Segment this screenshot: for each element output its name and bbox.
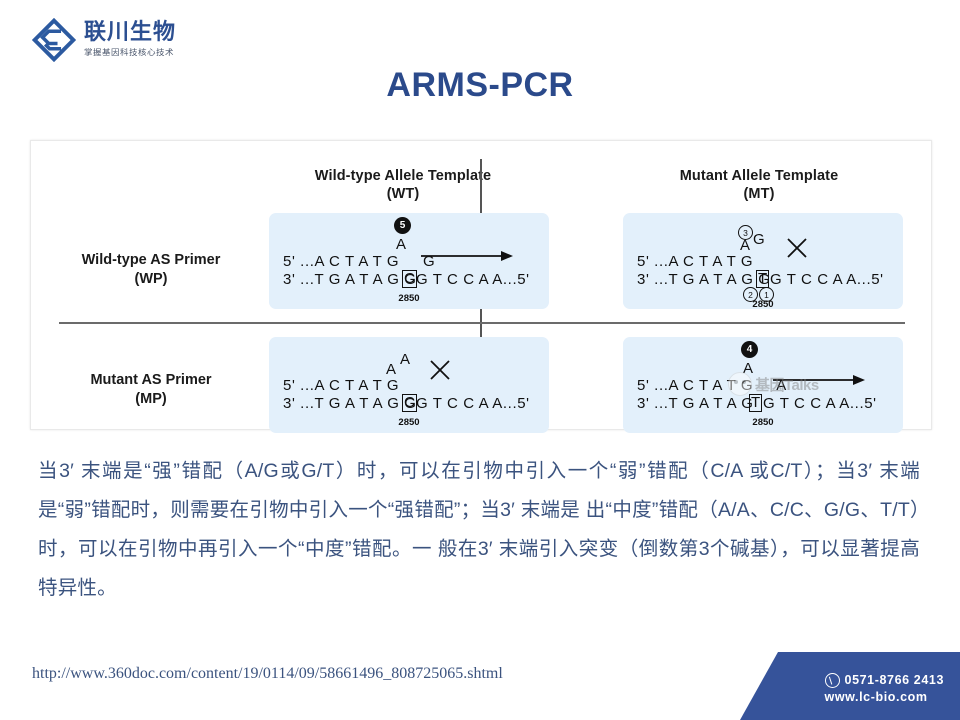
- blocked-cross-icon-wt-mp: [429, 359, 451, 381]
- body-paragraph: 当3′ 末端是“强”错配（A/G或G/T）时，可以在引物中引入一个“弱”错配（C…: [38, 452, 920, 608]
- position-label-mt-mp: 2850: [623, 417, 903, 428]
- badge-4: 4: [741, 341, 758, 358]
- lc-bio-logo-icon: [32, 18, 76, 62]
- bottom-tail-mt-wp: G T C C A A...5': [770, 271, 884, 288]
- position-label-wt-mp: 2850: [269, 417, 549, 428]
- top-strand-mt-mp: 5' ...A C T A T G A: [637, 377, 787, 394]
- bottom-strand-mt-wp: 3' ...T G A T A G G: [637, 271, 771, 288]
- top-strand-mt-wp: 5' ...A C T A T G: [637, 253, 753, 270]
- brand-text: 联川生物 掌握基因科技核心技术: [84, 18, 176, 58]
- mismatch-base-mt-mp: A: [743, 360, 753, 377]
- column-header-wt-line2: (WT): [253, 185, 553, 203]
- bottom-strand-wt-wp: 3' ...T G A T A G G: [283, 271, 417, 288]
- row-label-mutant-primer: Mutant AS Primer (MP): [41, 371, 261, 409]
- column-header-wild-type: Wild-type Allele Template (WT): [253, 167, 553, 203]
- mismatch-base-wt-mp: A: [386, 361, 396, 378]
- brand-logo: 联川生物 掌握基因科技核心技术: [32, 18, 176, 62]
- phone-icon: [825, 673, 840, 688]
- sequence-panel-wt-wp: 5 A 5' ...A C T A T G G 3' ...T G A T A …: [269, 213, 549, 309]
- boxed-base-mt-mp: T: [749, 394, 762, 412]
- bottom-tail-wt-mp: G T C C A A...5': [416, 395, 530, 412]
- brand-tagline: 掌握基因科技核心技术: [84, 46, 176, 57]
- page-title: ARMS-PCR: [0, 66, 960, 105]
- bottom-strand-wt-mp: 3' ...T G A T A G G: [283, 395, 417, 412]
- sequence-panel-mt-wp: 3 A G 5' ...A C T A T G 3' ...T G A T A …: [623, 213, 903, 309]
- row-label-mp-line2: (MP): [41, 390, 261, 409]
- row-label-wp-line1: Wild-type AS Primer: [41, 251, 261, 270]
- top-strand-wt-mp: 5' ...A C T A T G: [283, 377, 399, 394]
- source-url[interactable]: http://www.360doc.com/content/19/0114/09…: [32, 665, 503, 683]
- footer-contact-lines: 0571-8766 2413 www.lc-bio.com: [825, 672, 944, 706]
- footer-contact-badge: 0571-8766 2413 www.lc-bio.com: [740, 652, 960, 720]
- mismatch-base-wt-wp: A: [396, 236, 406, 253]
- column-header-wt-line1: Wild-type Allele Template: [253, 167, 553, 185]
- extension-arrow-icon-mt-mp: [773, 373, 865, 387]
- footer-phone-row: 0571-8766 2413: [825, 672, 944, 689]
- boxed-base-mt-wp: T: [756, 270, 769, 288]
- row-label-wild-type-primer: Wild-type AS Primer (WP): [41, 251, 261, 289]
- extension-arrow-icon-wt-wp: [421, 249, 513, 263]
- footer-phone: 0571-8766 2413: [845, 672, 944, 689]
- horizontal-divider: [59, 322, 905, 324]
- template-base-mt-wp: G: [753, 231, 765, 248]
- bottom-tail-mt-mp: G T C C A A...5': [763, 395, 877, 412]
- blocked-cross-icon-mt-wp: [786, 237, 808, 259]
- sequence-panel-wt-mp: A A 5' ...A C T A T G 3' ...T G A T A G …: [269, 337, 549, 433]
- position-label-mt-wp: 2850: [623, 299, 903, 310]
- top-strand-wt-wp: 5' ...A C T A T G G: [283, 253, 435, 270]
- row-label-mp-line1: Mutant AS Primer: [41, 371, 261, 390]
- body-paragraph-text: 当3′ 末端是“强”错配（A/G或G/T）时，可以在引物中引入一个“弱”错配（C…: [38, 452, 920, 608]
- row-label-wp-line2: (WP): [41, 270, 261, 289]
- primer-base-wt-mp: A: [400, 351, 410, 368]
- boxed-base-wt-mp: C: [402, 394, 417, 412]
- brand-name: 联川生物: [84, 20, 176, 43]
- bottom-strand-mt-mp: 3' ...T G A T A G: [637, 395, 753, 412]
- footer-website[interactable]: www.lc-bio.com: [825, 689, 944, 706]
- column-header-mt-line1: Mutant Allele Template: [609, 167, 909, 185]
- column-header-mt-line2: (MT): [609, 185, 909, 203]
- bottom-tail-wt-wp: G T C C A A...5': [416, 271, 530, 288]
- figure-card: Wild-type Allele Template (WT) Mutant Al…: [30, 140, 932, 430]
- column-header-mutant: Mutant Allele Template (MT): [609, 167, 909, 203]
- mismatch-base-mt-wp: A: [740, 237, 750, 254]
- position-label-wt-wp: 2850: [269, 293, 549, 304]
- badge-5: 5: [394, 217, 411, 234]
- boxed-base-wt-wp: C: [402, 270, 417, 288]
- sequence-panel-mt-mp: 4 A 5' ...A C T A T G A 3' ...T G A T A …: [623, 337, 903, 433]
